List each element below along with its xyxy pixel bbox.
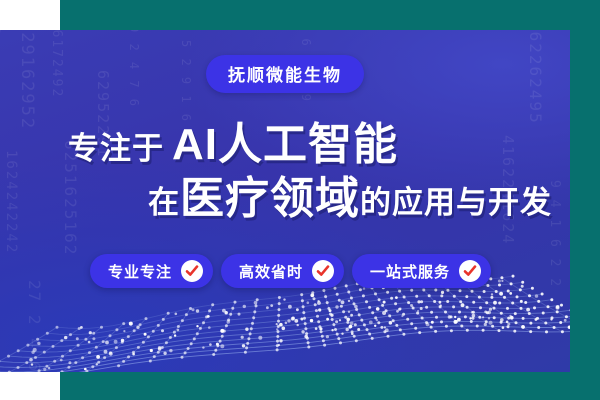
headline-line2-prefix: 在	[148, 185, 180, 220]
white-notch-bottom-left	[0, 372, 60, 400]
check-icon	[459, 260, 481, 282]
headline-line-1: 专注于AI人工智能	[0, 122, 570, 168]
feature-pill-professional[interactable]: 专业专注	[90, 254, 213, 288]
feature-pill-list: 专业专注 高效省时 一站式服务	[90, 254, 491, 288]
hero-banner: 629162952 5296172492 62952291 9 2 4 7 6 …	[0, 30, 570, 372]
feature-pill-label: 高效省时	[239, 261, 303, 282]
headline-line1-prefix: 专注于	[68, 131, 164, 166]
digit-column: 9 2 4 7 6	[128, 30, 140, 108]
brand-badge: 抚顺微能生物	[206, 55, 364, 93]
digit-column: 5296172492	[50, 30, 63, 98]
check-icon	[312, 260, 334, 282]
banner-canvas: 629162952 5296172492 62952291 9 2 4 7 6 …	[0, 0, 600, 400]
feature-pill-label: 一站式服务	[370, 261, 450, 282]
feature-pill-one-stop-service[interactable]: 一站式服务	[352, 254, 491, 288]
headline-line1-emphasis: AI人工智能	[172, 120, 398, 169]
feature-pill-efficient[interactable]: 高效省时	[221, 254, 344, 288]
headline-line2-suffix: 的应用与开发	[360, 185, 552, 220]
headline: 专注于AI人工智能 在医疗领域的应用与开发	[0, 122, 570, 222]
feature-pill-label: 专业专注	[108, 261, 172, 282]
digit-column: 629162952	[18, 30, 35, 130]
headline-line2-emphasis: 医疗领域	[180, 174, 360, 223]
white-notch-top-left	[0, 0, 60, 30]
headline-line-2: 在医疗领域的应用与开发	[0, 176, 570, 222]
digit-column: 162262495	[527, 30, 543, 125]
digit-column: 27 2 4 6	[26, 280, 42, 372]
check-icon	[181, 260, 203, 282]
